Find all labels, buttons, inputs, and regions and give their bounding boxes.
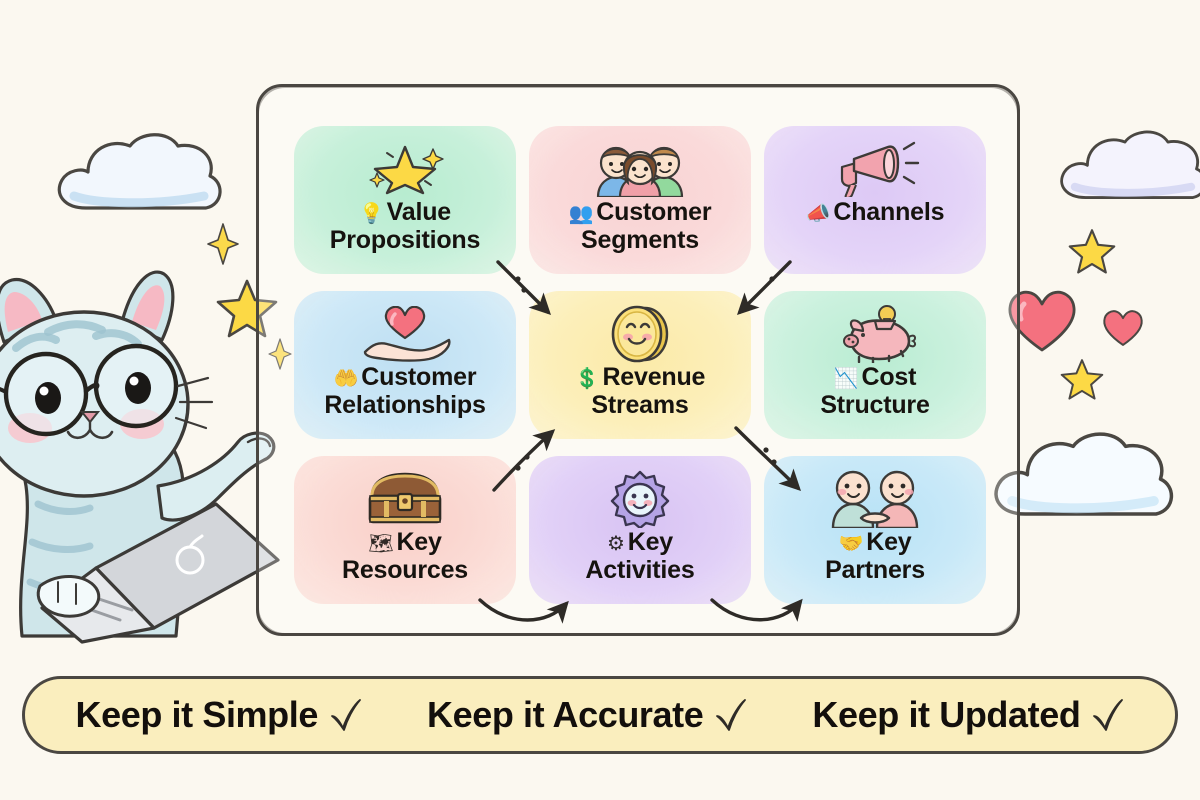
block-label-customer-relationships: 🤲CustomerRelationships — [324, 363, 485, 419]
block-customer-segments[interactable]: 👥CustomerSegments — [529, 126, 751, 274]
handshake-emblem — [825, 472, 925, 526]
business-model-grid: 💡ValuePropositions — [294, 126, 986, 604]
dollar-icon: 💲 — [575, 368, 600, 390]
check-icon-keep-it-simple — [328, 698, 362, 732]
block-label-channels: 📣Channels — [806, 198, 945, 226]
bottom-banner: Keep it Simple Keep it Accurate Keep it … — [22, 676, 1178, 754]
handshake-icon: 🤝 — [839, 533, 864, 555]
block-label-revenue-streams: 💲RevenueStreams — [575, 363, 706, 419]
block-value-propositions[interactable]: 💡ValuePropositions — [294, 126, 516, 274]
cloud-top-left — [44, 120, 234, 230]
star-emblem — [363, 142, 447, 196]
block-key-resources[interactable]: 🗺KeyResources — [294, 456, 516, 604]
block-revenue-streams[interactable]: 💲RevenueStreams — [529, 291, 751, 439]
block-label-key-resources: 🗺KeyResources — [342, 528, 468, 584]
check-icon-keep-it-accurate — [713, 698, 747, 732]
heart-right-small — [1102, 308, 1144, 348]
smiling-gear-emblem — [609, 472, 671, 526]
star-right-lower — [1060, 358, 1104, 400]
block-key-activities[interactable]: ⚙KeyActivities — [529, 456, 751, 604]
megaphone-icon: 📣 — [806, 203, 831, 225]
slogan-text-keep-it-simple: Keep it Simple — [76, 694, 318, 736]
gear-icon: ⚙ — [607, 533, 625, 555]
family-emblem — [588, 142, 692, 196]
block-channels[interactable]: 📣Channels — [764, 126, 986, 274]
hand-holding-heart-emblem — [357, 307, 453, 361]
block-label-key-partners: 🤝KeyPartners — [825, 528, 925, 584]
slogan-text-keep-it-accurate: Keep it Accurate — [427, 694, 703, 736]
block-key-partners[interactable]: 🤝KeyPartners — [764, 456, 986, 604]
piggy-bank-emblem — [829, 307, 921, 361]
smiling-coin-emblem — [607, 307, 673, 361]
block-cost-structure[interactable]: 📉CostStructure — [764, 291, 986, 439]
mascot-cat-with-laptop — [0, 236, 286, 656]
hands-icon: 🤲 — [334, 368, 359, 390]
megaphone-emblem — [828, 142, 922, 196]
block-label-value-propositions: 💡ValuePropositions — [330, 198, 480, 254]
star-right-upper — [1068, 228, 1116, 274]
map-icon: 🗺 — [368, 533, 393, 555]
illustration-canvas: 💡ValuePropositions — [0, 0, 1200, 800]
check-icon-keep-it-updated — [1090, 698, 1124, 732]
chart-down-icon: 📉 — [834, 368, 859, 390]
slogan-keep-it-updated: Keep it Updated — [812, 694, 1124, 736]
block-label-key-activities: ⚙KeyActivities — [585, 528, 694, 584]
slogan-keep-it-accurate: Keep it Accurate — [427, 694, 747, 736]
people-icon: 👥 — [569, 203, 594, 225]
treasure-chest-emblem — [362, 472, 448, 526]
block-customer-relationships[interactable]: 🤲CustomerRelationships — [294, 291, 516, 439]
block-label-cost-structure: 📉CostStructure — [820, 363, 929, 419]
block-label-customer-segments: 👥CustomerSegments — [569, 198, 712, 254]
slogan-text-keep-it-updated: Keep it Updated — [812, 694, 1080, 736]
lightbulb-icon: 💡 — [359, 203, 384, 225]
cloud-top-right — [1048, 118, 1200, 218]
slogan-keep-it-simple: Keep it Simple — [76, 694, 362, 736]
